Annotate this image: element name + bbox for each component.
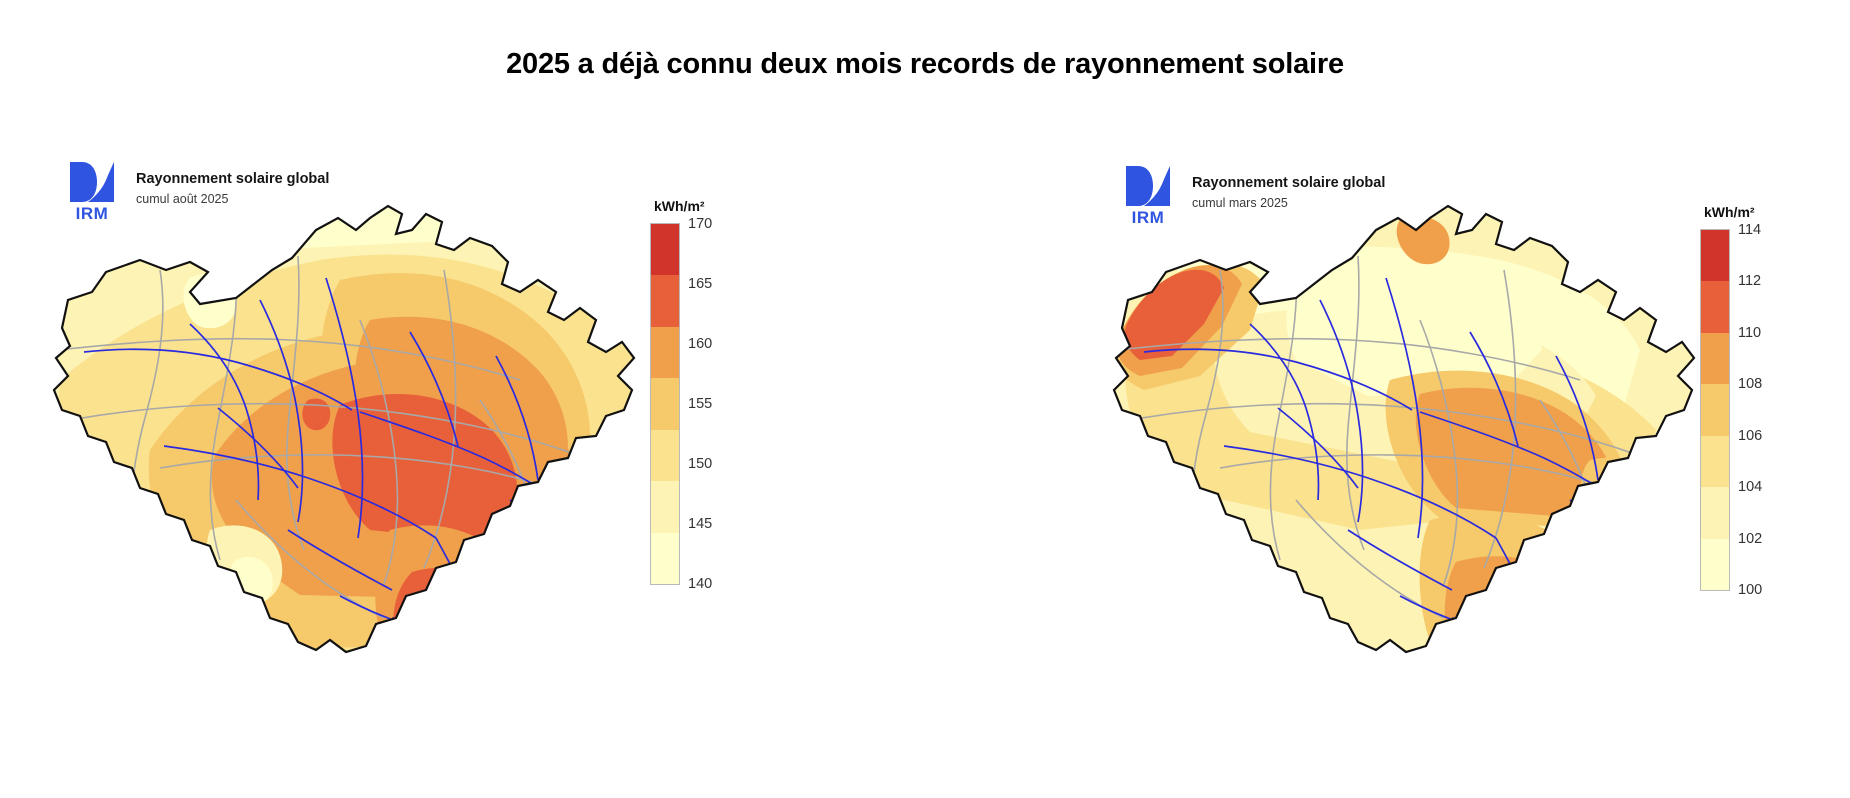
colorbar-tick-label: 155 xyxy=(688,397,712,412)
colorbar-unit-march: kWh/m² xyxy=(1704,204,1840,220)
colorbar-tick-label: 104 xyxy=(1738,480,1762,495)
colorbar-band xyxy=(1701,539,1729,590)
colorbar-band xyxy=(651,481,679,532)
colorbar-tick-label: 112 xyxy=(1738,274,1761,289)
irm-logo-icon xyxy=(68,160,116,204)
colorbar-tick-label: 110 xyxy=(1738,326,1761,341)
colorbar-band xyxy=(651,378,679,429)
colorbar-tick-label: 150 xyxy=(688,457,712,472)
colorbar-march: kWh/m² 114112110108106104102100 xyxy=(1690,204,1840,589)
colorbar-tick-label: 100 xyxy=(1738,583,1762,598)
colorbar-band xyxy=(1701,281,1729,332)
colorbar-tick-label: 165 xyxy=(688,277,712,292)
map-panel-august: IRM Rayonnement solaire global cumul aoû… xyxy=(40,160,820,720)
belgium-map-august xyxy=(40,200,680,700)
panel-title-august: Rayonnement solaire global xyxy=(136,171,329,188)
page-title: 2025 a déjà connu deux mois records de r… xyxy=(0,48,1850,81)
colorbar-tick-label: 102 xyxy=(1738,532,1762,547)
map-choropleth-august xyxy=(40,200,680,700)
colorbar-tick-label: 108 xyxy=(1738,377,1762,392)
colorbar-band xyxy=(1701,230,1729,281)
colorbar-tick-label: 140 xyxy=(688,577,712,592)
colorbar-august: kWh/m² 170165160155150145140 xyxy=(640,198,790,583)
colorbar-band xyxy=(1701,333,1729,384)
colorbar-tick-label: 145 xyxy=(688,517,712,532)
map-choropleth-march xyxy=(1100,200,1740,700)
colorbar-tick-label: 160 xyxy=(688,337,712,352)
belgium-map-march xyxy=(1100,200,1740,700)
colorbar-gradient-march xyxy=(1700,229,1730,591)
colorbar-band xyxy=(651,327,679,378)
colorbar-band xyxy=(651,275,679,326)
panel-title-march: Rayonnement solaire global xyxy=(1192,175,1385,192)
colorbar-band xyxy=(1701,436,1729,487)
colorbar-unit-august: kWh/m² xyxy=(654,198,790,214)
map-panel-march: IRM Rayonnement solaire global cumul mar… xyxy=(1100,160,1850,720)
colorbar-tick-label: 106 xyxy=(1738,429,1762,444)
belgium-map-august-svg xyxy=(40,200,680,700)
colorbar-band xyxy=(1701,487,1729,538)
colorbar-band xyxy=(651,533,679,584)
colorbar-tick-label: 170 xyxy=(688,217,712,232)
colorbar-band xyxy=(651,224,679,275)
colorbar-band xyxy=(651,430,679,481)
belgium-map-march-svg xyxy=(1100,200,1740,700)
colorbar-band xyxy=(1701,384,1729,435)
colorbar-gradient-august xyxy=(650,223,680,585)
colorbar-tick-label: 114 xyxy=(1738,223,1761,238)
